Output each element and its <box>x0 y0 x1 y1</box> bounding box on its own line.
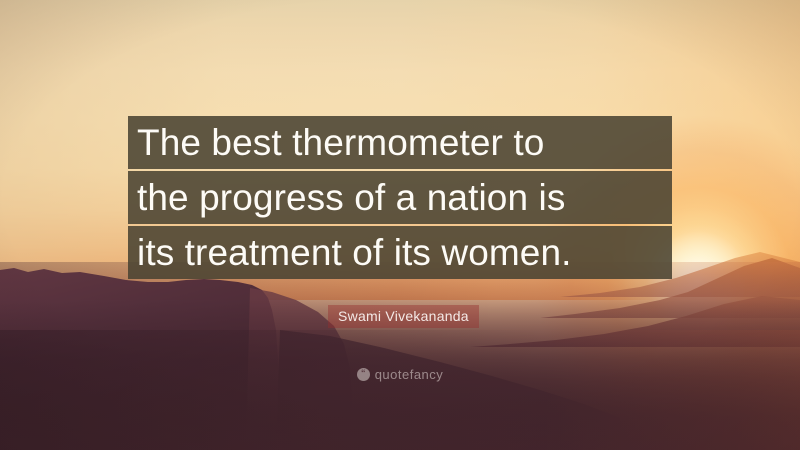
quote-line-1: The best thermometer to <box>128 116 672 169</box>
watermark-brand: quotefancy <box>375 367 444 382</box>
quote-image-canvas: The best thermometer to the progress of … <box>0 0 800 450</box>
quote-line-3: its treatment of its women. <box>128 226 672 279</box>
quote-mark-icon: “ <box>357 368 370 381</box>
quote-mark-glyph: “ <box>361 369 366 378</box>
quote-line-2: the progress of a nation is <box>128 171 672 224</box>
watermark: “ quotefancy <box>0 367 800 382</box>
quote-block: The best thermometer to the progress of … <box>128 116 672 279</box>
quote-author: Swami Vivekananda <box>328 305 479 328</box>
